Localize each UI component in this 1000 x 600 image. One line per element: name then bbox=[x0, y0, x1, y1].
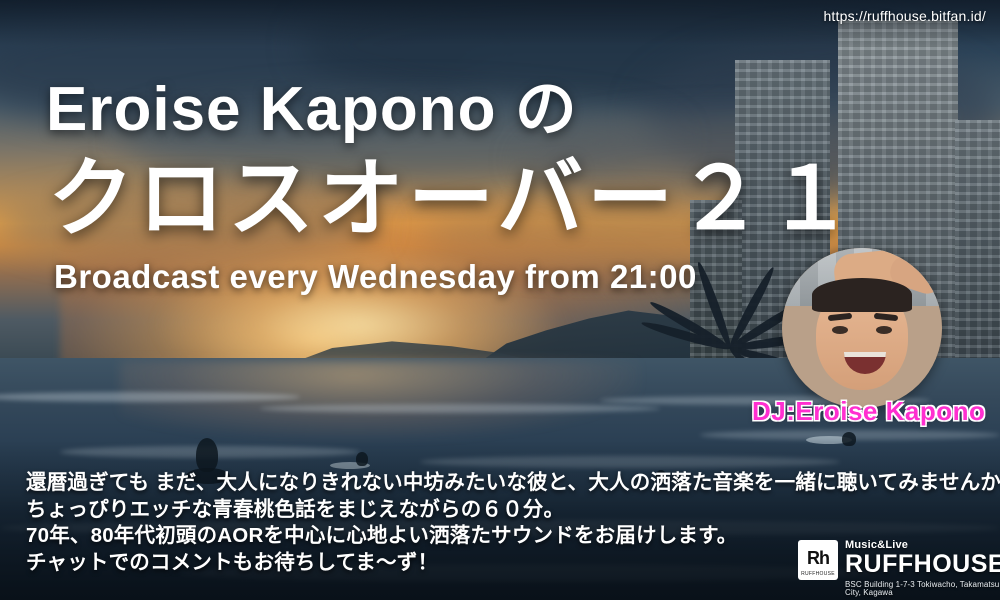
broadcast-schedule: Broadcast every Wednesday from 21:00 bbox=[54, 258, 697, 296]
program-description: 還暦過ぎても まだ、大人になりきれない中坊みたいな彼と、大人の洒落た音楽を一緒に… bbox=[26, 470, 816, 576]
avatar bbox=[782, 248, 942, 408]
hair-shape bbox=[812, 278, 912, 312]
ruffhouse-mark-icon: Rh RUFFHOUSE bbox=[798, 540, 838, 580]
dj-name-label: DJ:Eroise Kapono bbox=[752, 396, 985, 427]
logo-monogram: Rh bbox=[807, 549, 829, 567]
logo-text-block: Music&Live RUFFHOUSE BSC Building 1-7-3 … bbox=[845, 540, 1000, 597]
site-url[interactable]: https://ruffhouse.bitfan.id/ bbox=[823, 8, 986, 24]
eye-shape bbox=[832, 326, 848, 334]
description-line: チャットでのコメントもお待ちしてま～ず！ bbox=[26, 550, 816, 577]
description-line: ちょっぴりエッチな青春桃色話をまじえながらの６０分。 bbox=[26, 497, 816, 524]
wave-crest bbox=[260, 404, 660, 413]
ruffhouse-logo[interactable]: Rh RUFFHOUSE Music&Live RUFFHOUSE BSC Bu… bbox=[798, 540, 1000, 597]
hotel-tower bbox=[955, 120, 1000, 365]
dj-photo bbox=[782, 248, 942, 408]
eye-shape bbox=[876, 326, 892, 334]
description-line: 還暦過ぎても まだ、大人になりきれない中坊みたいな彼と、大人の洒落た音楽を一緒に… bbox=[26, 470, 816, 497]
logo-address: BSC Building 1-7-3 Tokiwacho, Takamatsu … bbox=[845, 581, 1000, 597]
program-title-line2: クロスオーバー２１ bbox=[48, 128, 857, 253]
promo-banner: https://ruffhouse.bitfan.id/ Eroise Kapo… bbox=[0, 0, 1000, 600]
description-line: 70年、80年代初頭のAORを中心に心地よい洒落たサウンドをお届けします。 bbox=[26, 523, 816, 550]
logo-name: RUFFHOUSE bbox=[845, 552, 1000, 577]
logo-mark-caption: RUFFHOUSE bbox=[798, 571, 838, 577]
